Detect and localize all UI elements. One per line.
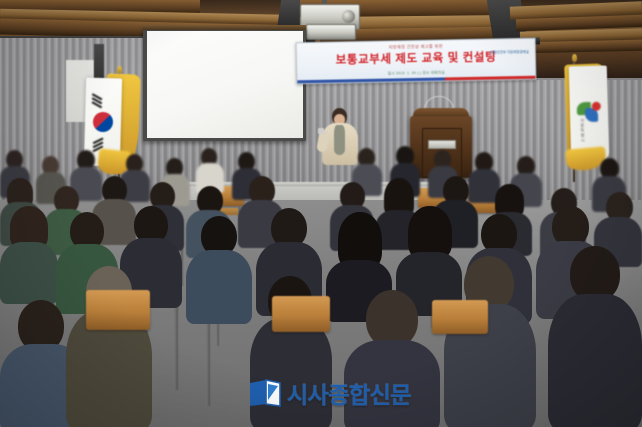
chair-back: [432, 300, 488, 334]
chair-back: [272, 296, 330, 332]
presenter-shirt: [334, 125, 345, 155]
chair-leg: [174, 300, 178, 390]
photo-canvas: 지방재정 건전성 제고를 위한 보통교부세 제도 교육 및 컨설팅 행정안전부 …: [0, 0, 642, 427]
person-body: [548, 294, 642, 427]
watermark-text: 시사종합신문: [287, 376, 411, 410]
flag-city-label: 서울특별시: [579, 118, 586, 143]
screen-top-rail: [143, 25, 306, 30]
presentation-remote: [318, 128, 324, 134]
chair-back: [86, 290, 150, 330]
person-body: [186, 250, 252, 324]
person-body: [250, 318, 332, 427]
event-banner: 지방재정 건전성 제고를 위한 보통교부세 제도 교육 및 컨설팅 행정안전부 …: [296, 38, 537, 85]
flagpole-finial: [117, 66, 122, 74]
projection-screen: [147, 31, 303, 138]
watermark: 시사종합신문: [248, 376, 411, 410]
flagpole-finial: [572, 54, 577, 62]
podium-name-plate: [428, 140, 456, 149]
projector-lens: [342, 10, 355, 23]
emblem-red-dot: [592, 102, 601, 111]
open-book-logo: [248, 378, 282, 408]
audience-member: [0, 206, 58, 298]
ceiling-projector-body: [306, 24, 356, 40]
taeguk-circle: [93, 112, 114, 133]
banner-right-block: 행정안전부 지방재정경제실: [490, 50, 528, 56]
audience-member: [548, 246, 642, 427]
audience-member: [444, 256, 536, 427]
audience-member: [186, 216, 252, 318]
person-body: [0, 242, 58, 304]
